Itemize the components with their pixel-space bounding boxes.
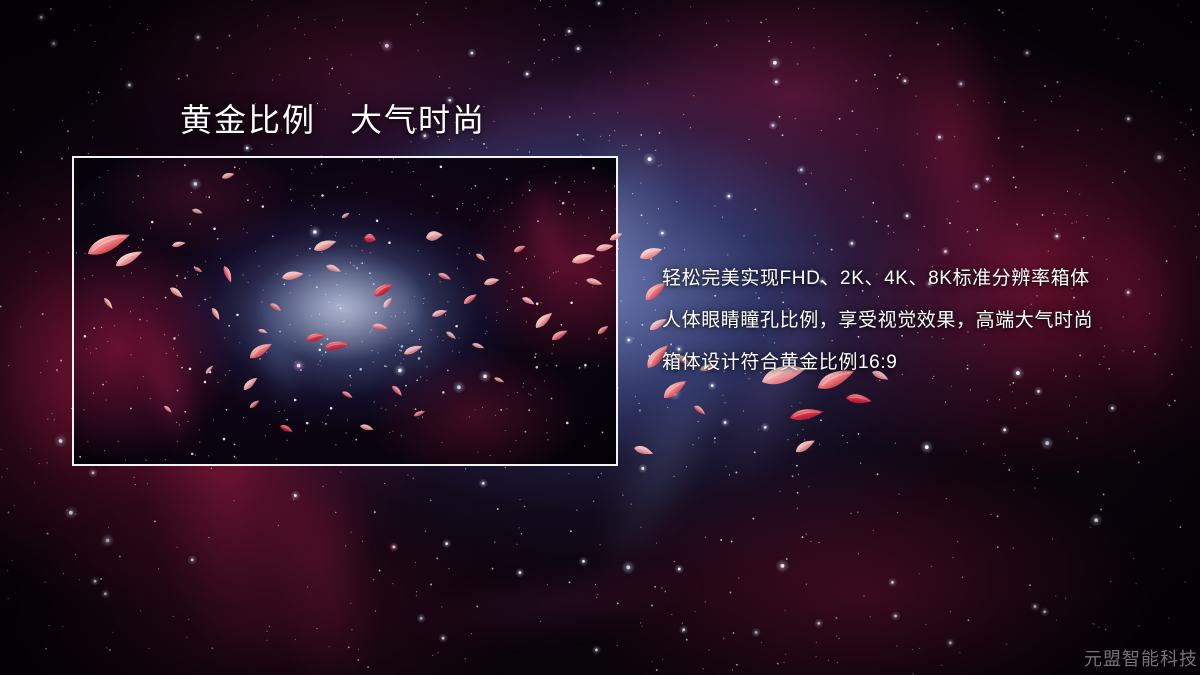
company-watermark: 元盟智能科技 [1084,647,1198,671]
page-title: 黄金比例 大气时尚 [180,100,486,140]
feature-line-3: 箱体设计符合黄金比例16:9 [662,342,1182,384]
feature-description: 轻松完美实现FHD、2K、4K、8K标准分辨率箱体 人体眼睛瞳孔比例，享受视觉效… [662,258,1182,384]
product-image-panel[interactable] [72,156,618,466]
feature-line-1: 轻松完美实现FHD、2K、4K、8K标准分辨率箱体 [662,258,1182,300]
panel-nebula-filaments [72,156,618,466]
slide-canvas: 黄金比例 大气时尚 轻松完美实现FHD、2K、4K、8K标准分辨率箱体 人体眼睛… [0,0,1200,675]
feature-line-2: 人体眼睛瞳孔比例，享受视觉效果，高端大气时尚 [662,300,1182,342]
